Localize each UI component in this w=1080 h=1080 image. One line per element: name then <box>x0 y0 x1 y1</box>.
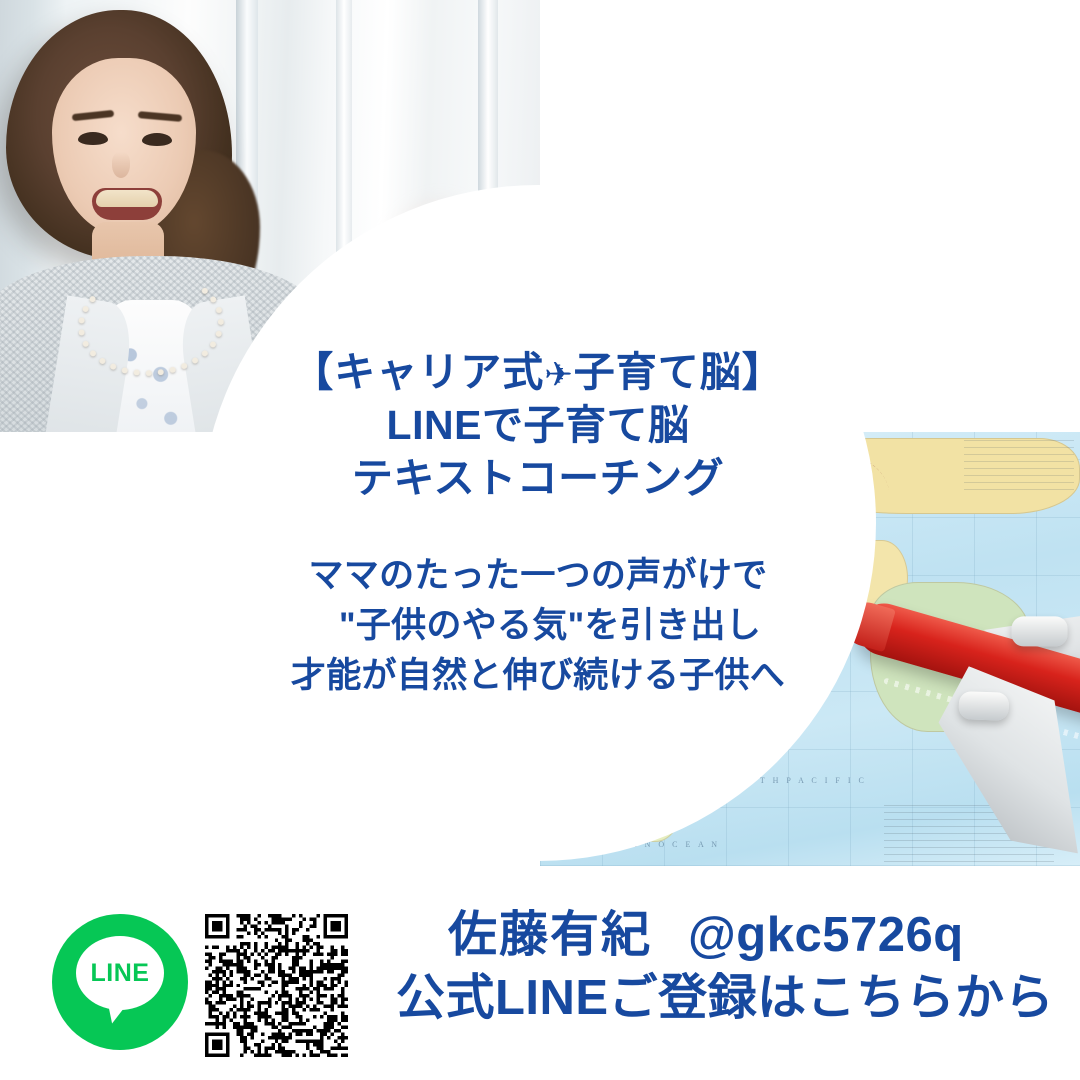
nose <box>112 152 130 178</box>
subcopy: ママのたった一つの声がけで "子供のやる気"を引き出し 才能が自然と伸び続ける子… <box>291 551 785 700</box>
airplane-engine-2 <box>958 691 1009 721</box>
eye-right <box>142 133 172 146</box>
subcopy-line-2: "子供のやる気"を引き出し <box>291 601 785 651</box>
line-logo-icon[interactable]: LINE <box>52 914 188 1050</box>
footer-bar: LINE 佐藤有紀@gkc5726q 公式LINEご登録はこちらから <box>0 866 1080 1080</box>
qr-code-canvas[interactable] <box>205 914 348 1057</box>
headline: 【キャリア式✈子育て脳】 LINEで子育て脳 テキストコーチング <box>292 346 784 506</box>
headline-line-3: テキストコーチング <box>292 452 784 505</box>
line-handle: @gkc5726q <box>652 908 964 962</box>
subcopy-line-3: 才能が自然と伸び続ける子供へ <box>291 651 785 701</box>
airplane-engine-1 <box>1012 616 1068 646</box>
promo-poster: P A C I F I C O C E A N N O R T H P A C … <box>0 0 1080 1080</box>
line-logo-wordmark: LINE <box>76 936 164 1010</box>
footer-text-block: 佐藤有紀@gkc5726q 公式LINEご登録はこちらから <box>396 904 1056 1029</box>
headline-line-1: 【キャリア式✈子育て脳】 <box>292 346 784 399</box>
headline-suffix: 子育て脳】 <box>574 349 784 395</box>
qr-code[interactable] <box>205 914 348 1057</box>
mouth <box>92 188 162 220</box>
headline-line-2: LINEで子育て脳 <box>292 399 784 452</box>
map-legend-secondary <box>964 436 1074 490</box>
account-name: 佐藤有紀 <box>448 908 652 962</box>
eye-left <box>78 132 108 145</box>
footer-cta: 公式LINEご登録はこちらから <box>396 967 1056 1030</box>
headline-block: 【キャリア式✈子育て脳】 LINEで子育て脳 テキストコーチング ママのたった一… <box>200 185 876 861</box>
subcopy-line-1: ママのたった一つの声がけで <box>291 551 785 601</box>
airplane-icon: ✈ <box>544 356 574 394</box>
footer-row-name: 佐藤有紀@gkc5726q <box>396 904 1056 967</box>
teeth <box>96 190 158 207</box>
headline-prefix: 【キャリア式 <box>292 349 544 395</box>
